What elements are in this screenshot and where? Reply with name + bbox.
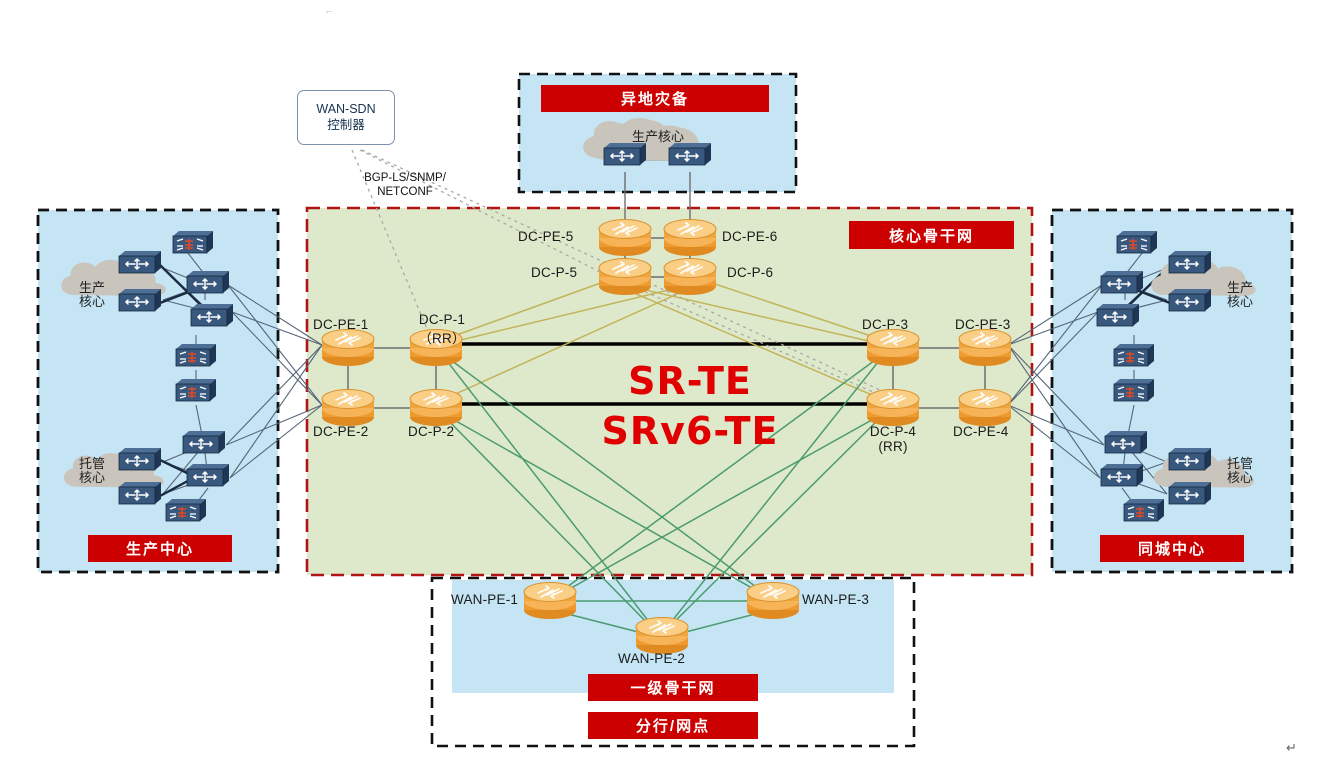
- left-switch-agg-4: [187, 464, 229, 486]
- right-firewall-2: [1114, 344, 1154, 366]
- left-switch-agg-2: [191, 304, 233, 326]
- left-firewall-4: [166, 499, 206, 521]
- router-dc-pe-3: [959, 330, 1011, 367]
- protocol-line-2: NETCONF: [340, 186, 470, 200]
- srv6te-label: SRv6-TE: [545, 409, 835, 453]
- label-dc-pe-6: DC-PE-6: [722, 229, 777, 244]
- left-host-line2: 核心: [68, 471, 116, 485]
- label-wan-pe-3: WAN-PE-3: [802, 592, 869, 607]
- left-switch-prod-1: [119, 251, 161, 273]
- right-switch-agg-3: [1105, 431, 1147, 453]
- left-prod-line2: 核心: [68, 295, 116, 309]
- controller-title-line1: WAN-SDN: [316, 102, 375, 118]
- router-dc-pe-5: [599, 220, 651, 257]
- right-prod-line2: 核心: [1216, 295, 1264, 309]
- left-switch-host-2: [119, 482, 161, 504]
- router-dc-p-3: [867, 330, 919, 367]
- right-firewall-4: [1124, 499, 1164, 521]
- left-host-line1: 托管: [68, 457, 116, 471]
- label-dc-pe-4: DC-PE-4: [953, 424, 1008, 439]
- label-dc-p-3: DC-P-3: [862, 317, 908, 332]
- label-wan-pe-1: WAN-PE-1: [451, 592, 518, 607]
- router-dc-pe-1: [322, 330, 374, 367]
- banner-dr-site: 异地灾备: [541, 85, 769, 112]
- router-dc-pe-2: [322, 390, 374, 427]
- srte-label: SR-TE: [560, 359, 820, 403]
- left-switch-prod-2: [119, 289, 161, 311]
- left-switch-agg-1: [187, 271, 229, 293]
- banner-production-center: 生产中心: [88, 535, 232, 562]
- paragraph-end-mark: ↵: [1286, 740, 1297, 756]
- network-architecture-diagram: WAN-SDN 控制器 BGP-LS/SNMP/ NETCONF 异地灾备 核心…: [0, 0, 1338, 783]
- dr-switch-1: [604, 143, 646, 165]
- protocol-line-1: BGP-LS/SNMP/: [340, 172, 470, 186]
- right-host-line2: 核心: [1216, 471, 1264, 485]
- left-firewall-1: [173, 231, 213, 253]
- right-firewall-3: [1114, 379, 1154, 401]
- dc-p-1-name: DC-P-1: [404, 312, 480, 327]
- right-switch-prod-2: [1169, 289, 1211, 311]
- label-dc-p-5: DC-P-5: [531, 265, 577, 280]
- router-wan-pe-2: [636, 618, 688, 655]
- label-dc-p-6: DC-P-6: [727, 265, 773, 280]
- banner-branch: 分行/网点: [588, 712, 758, 739]
- label-dc-p-1: DC-P-1 （RR）: [404, 312, 480, 347]
- top-artifact: ⌐: [326, 6, 332, 18]
- controller-protocol-label: BGP-LS/SNMP/ NETCONF: [340, 172, 470, 200]
- right-prod-line1: 生产: [1216, 281, 1264, 295]
- banner-metro-center: 同城中心: [1100, 535, 1244, 562]
- router-dc-p-6: [664, 259, 716, 296]
- router-dc-p-5: [599, 259, 651, 296]
- router-dc-p-4: [867, 390, 919, 427]
- cloud-label-right-hosting: 托管 核心: [1216, 457, 1264, 484]
- right-host-line1: 托管: [1216, 457, 1264, 471]
- right-firewall-1: [1117, 231, 1157, 253]
- cloud-label-left-production: 生产 核心: [68, 281, 116, 308]
- label-dc-pe-3: DC-PE-3: [955, 317, 1010, 332]
- left-prod-line1: 生产: [68, 281, 116, 295]
- left-switch-agg-3: [183, 431, 225, 453]
- controller-title-line2: 控制器: [327, 118, 365, 134]
- router-dc-pe-4: [959, 390, 1011, 427]
- right-switch-agg-1: [1101, 271, 1143, 293]
- right-switch-host-1: [1169, 448, 1211, 470]
- right-switch-agg-2: [1097, 304, 1139, 326]
- left-firewall-3: [176, 379, 216, 401]
- dc-p-4-role: (RR): [855, 439, 931, 454]
- banner-level1-backbone: 一级骨干网: [588, 674, 758, 701]
- router-wan-pe-3: [747, 583, 799, 620]
- left-switch-host-1: [119, 448, 161, 470]
- banner-core-backbone: 核心骨干网: [849, 221, 1014, 249]
- label-wan-pe-2: WAN-PE-2: [618, 651, 685, 666]
- label-dc-pe-2: DC-PE-2: [313, 424, 368, 439]
- label-dc-p-4: DC-P-4 (RR): [855, 424, 931, 454]
- left-firewall-2: [176, 344, 216, 366]
- label-dc-pe-1: DC-PE-1: [313, 317, 368, 332]
- right-switch-prod-1: [1169, 251, 1211, 273]
- dc-p-4-name: DC-P-4: [855, 424, 931, 439]
- label-dc-p-2: DC-P-2: [408, 424, 454, 439]
- right-switch-host-2: [1169, 482, 1211, 504]
- cloud-label-left-hosting: 托管 核心: [68, 457, 116, 484]
- wan-sdn-controller-box[interactable]: WAN-SDN 控制器: [297, 90, 395, 145]
- dc-p-1-role: （RR）: [404, 327, 480, 347]
- router-dc-p-2: [410, 390, 462, 427]
- router-wan-pe-1: [524, 583, 576, 620]
- dr-switch-2: [669, 143, 711, 165]
- cloud-label-dr-core: 生产核心: [612, 130, 704, 144]
- router-dc-pe-6: [664, 220, 716, 257]
- cloud-label-right-production: 生产 核心: [1216, 281, 1264, 308]
- right-switch-agg-4: [1101, 464, 1143, 486]
- label-dc-pe-5: DC-PE-5: [518, 229, 573, 244]
